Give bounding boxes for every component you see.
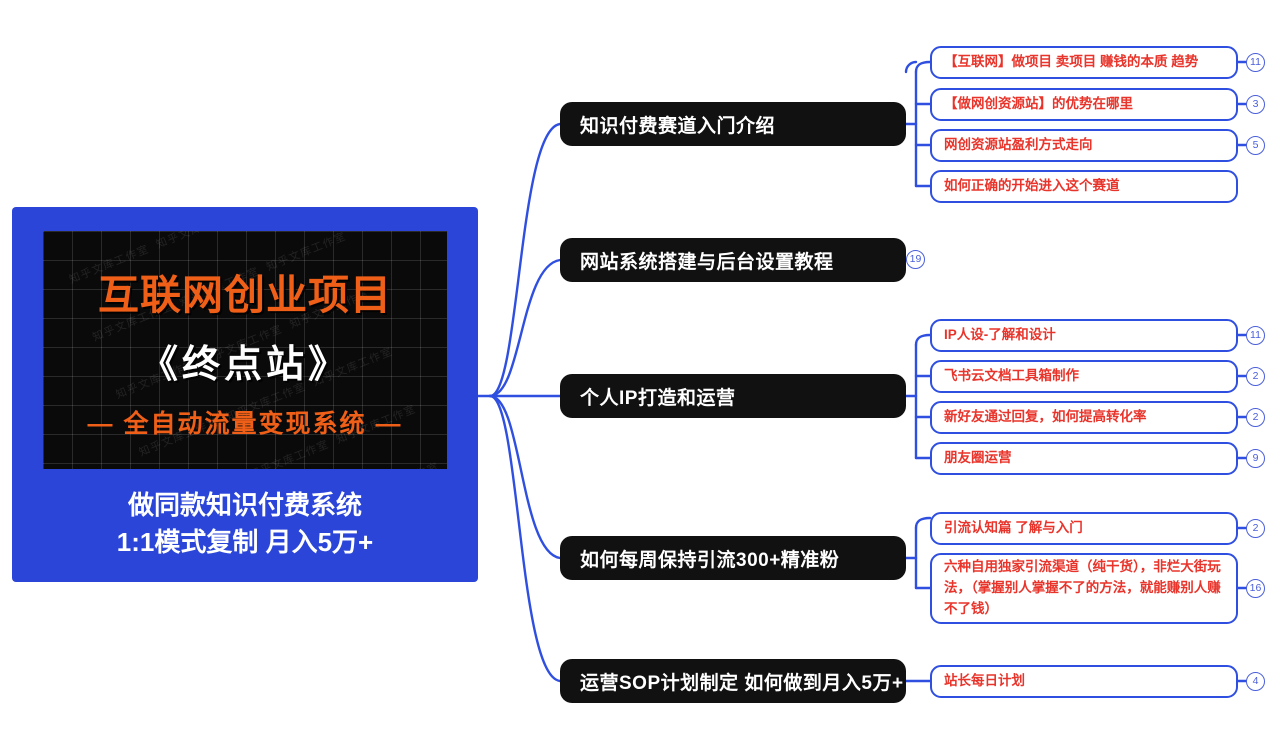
leaf-node-3-1-count-badge: 11 xyxy=(1246,326,1265,345)
branch-node-1[interactable]: 知识付费赛道入门介绍 xyxy=(560,102,906,146)
leaf-node-4-2[interactable]: 六种自用独家引流渠道（纯干货），非烂大街玩法，（掌握别人掌握不了的方法，就能赚别… xyxy=(930,553,1238,624)
leaf-node-1-3-count-badge: 5 xyxy=(1246,136,1265,155)
edge-root-to-branch-5 xyxy=(490,396,560,681)
branch-node-4-label: 如何每周保持引流300+精准粉 xyxy=(580,545,839,572)
leaf-node-3-4-label: 朋友圈运营 xyxy=(944,448,1012,469)
leaf-node-5-1-label: 站长每日计划 xyxy=(944,671,1025,692)
leaf-node-3-2-count-badge: 2 xyxy=(1246,367,1265,386)
poster-title-line3: — 全自动流量变现系统 — xyxy=(88,404,403,440)
leaf-node-1-2[interactable]: 【做网创资源站】的优势在哪里 xyxy=(930,88,1238,121)
leaf-node-4-1[interactable]: 引流认知篇 了解与入门 xyxy=(930,512,1238,545)
root-poster-image: 知乎文库工作室 知乎文库工作室 知乎文库工作室 知乎文库工作室 知乎文库工作室 … xyxy=(43,231,447,469)
root-subtitle: 做同款知识付费系统 1:1模式复制 月入5万+ xyxy=(117,487,373,561)
leaf-node-4-2-label: 六种自用独家引流渠道（纯干货），非烂大街玩法，（掌握别人掌握不了的方法，就能赚别… xyxy=(944,557,1224,620)
leaf-node-3-4[interactable]: 朋友圈运营 xyxy=(930,442,1238,475)
leaf-node-4-2-count-badge: 16 xyxy=(1246,579,1265,598)
poster-title-line1: 互联网创业项目 xyxy=(98,261,392,321)
edge-b4-to-leaf-1 xyxy=(916,518,930,528)
edge-b1-to-leaf-1 xyxy=(916,62,930,72)
leaf-node-1-2-label: 【做网创资源站】的优势在哪里 xyxy=(944,94,1133,115)
leaf-node-4-1-count-badge: 2 xyxy=(1246,519,1265,538)
leaf-node-1-1-count-badge: 11 xyxy=(1246,53,1265,72)
branch-node-2-label: 网站系统搭建与后台设置教程 xyxy=(580,247,834,274)
branch-node-3-label: 个人IP打造和运营 xyxy=(580,383,735,410)
edge-b3-to-leaf-1 xyxy=(916,335,930,345)
mindmap-canvas: 知乎文库工作室 知乎文库工作室 知乎文库工作室 知乎文库工作室 知乎文库工作室 … xyxy=(0,0,1278,750)
root-subtitle-line2: 1:1模式复制 月入5万+ xyxy=(117,524,373,561)
leaf-node-3-3-count-badge: 2 xyxy=(1246,408,1265,427)
root-node[interactable]: 知乎文库工作室 知乎文库工作室 知乎文库工作室 知乎文库工作室 知乎文库工作室 … xyxy=(12,207,478,582)
edge-root-to-branch-1 xyxy=(490,124,560,396)
branch-node-2[interactable]: 网站系统搭建与后台设置教程 xyxy=(560,238,906,282)
leaf-node-3-3-label: 新好友通过回复，如何提高转化率 xyxy=(944,407,1147,428)
leaf-node-3-3[interactable]: 新好友通过回复，如何提高转化率 xyxy=(930,401,1238,434)
leaf-node-1-4-label: 如何正确的开始进入这个赛道 xyxy=(944,176,1120,197)
leaf-node-3-2[interactable]: 飞书云文档工具箱制作 xyxy=(930,360,1238,393)
root-subtitle-line1: 做同款知识付费系统 xyxy=(117,487,373,524)
leaf-node-3-4-count-badge: 9 xyxy=(1246,449,1265,468)
edge-root-to-branch-2 xyxy=(490,260,560,396)
branch-node-3[interactable]: 个人IP打造和运营 xyxy=(560,374,906,418)
leaf-node-4-1-label: 引流认知篇 了解与入门 xyxy=(944,518,1083,539)
leaf-node-1-3-label: 网创资源站盈利方式走向 xyxy=(944,135,1093,156)
branch-node-5[interactable]: 运营SOP计划制定 如何做到月入5万+ xyxy=(560,659,906,703)
leaf-node-1-1-label: 【互联网】做项目 卖项目 赚钱的本质 趋势 xyxy=(944,52,1198,73)
edge-b1-elbow-top xyxy=(906,62,916,72)
leaf-node-3-2-label: 飞书云文档工具箱制作 xyxy=(944,366,1079,387)
leaf-node-3-1[interactable]: IP人设-了解和设计 xyxy=(930,319,1238,352)
leaf-node-1-1[interactable]: 【互联网】做项目 卖项目 赚钱的本质 趋势 xyxy=(930,46,1238,79)
leaf-node-5-1-count-badge: 4 xyxy=(1246,672,1265,691)
leaf-node-1-3[interactable]: 网创资源站盈利方式走向 xyxy=(930,129,1238,162)
branch-node-1-label: 知识付费赛道入门介绍 xyxy=(580,111,775,138)
leaf-node-1-2-count-badge: 3 xyxy=(1246,95,1265,114)
branch-node-2-count-badge: 19 xyxy=(906,250,925,269)
leaf-node-5-1[interactable]: 站长每日计划 xyxy=(930,665,1238,698)
leaf-node-3-1-label: IP人设-了解和设计 xyxy=(944,325,1056,346)
branch-node-5-label: 运营SOP计划制定 如何做到月入5万+ xyxy=(580,668,904,695)
branch-node-4[interactable]: 如何每周保持引流300+精准粉 xyxy=(560,536,906,580)
leaf-node-1-4[interactable]: 如何正确的开始进入这个赛道 xyxy=(930,170,1238,203)
poster-title-line2: 《终点站》 xyxy=(140,333,350,388)
edge-root-to-branch-4 xyxy=(490,396,560,558)
